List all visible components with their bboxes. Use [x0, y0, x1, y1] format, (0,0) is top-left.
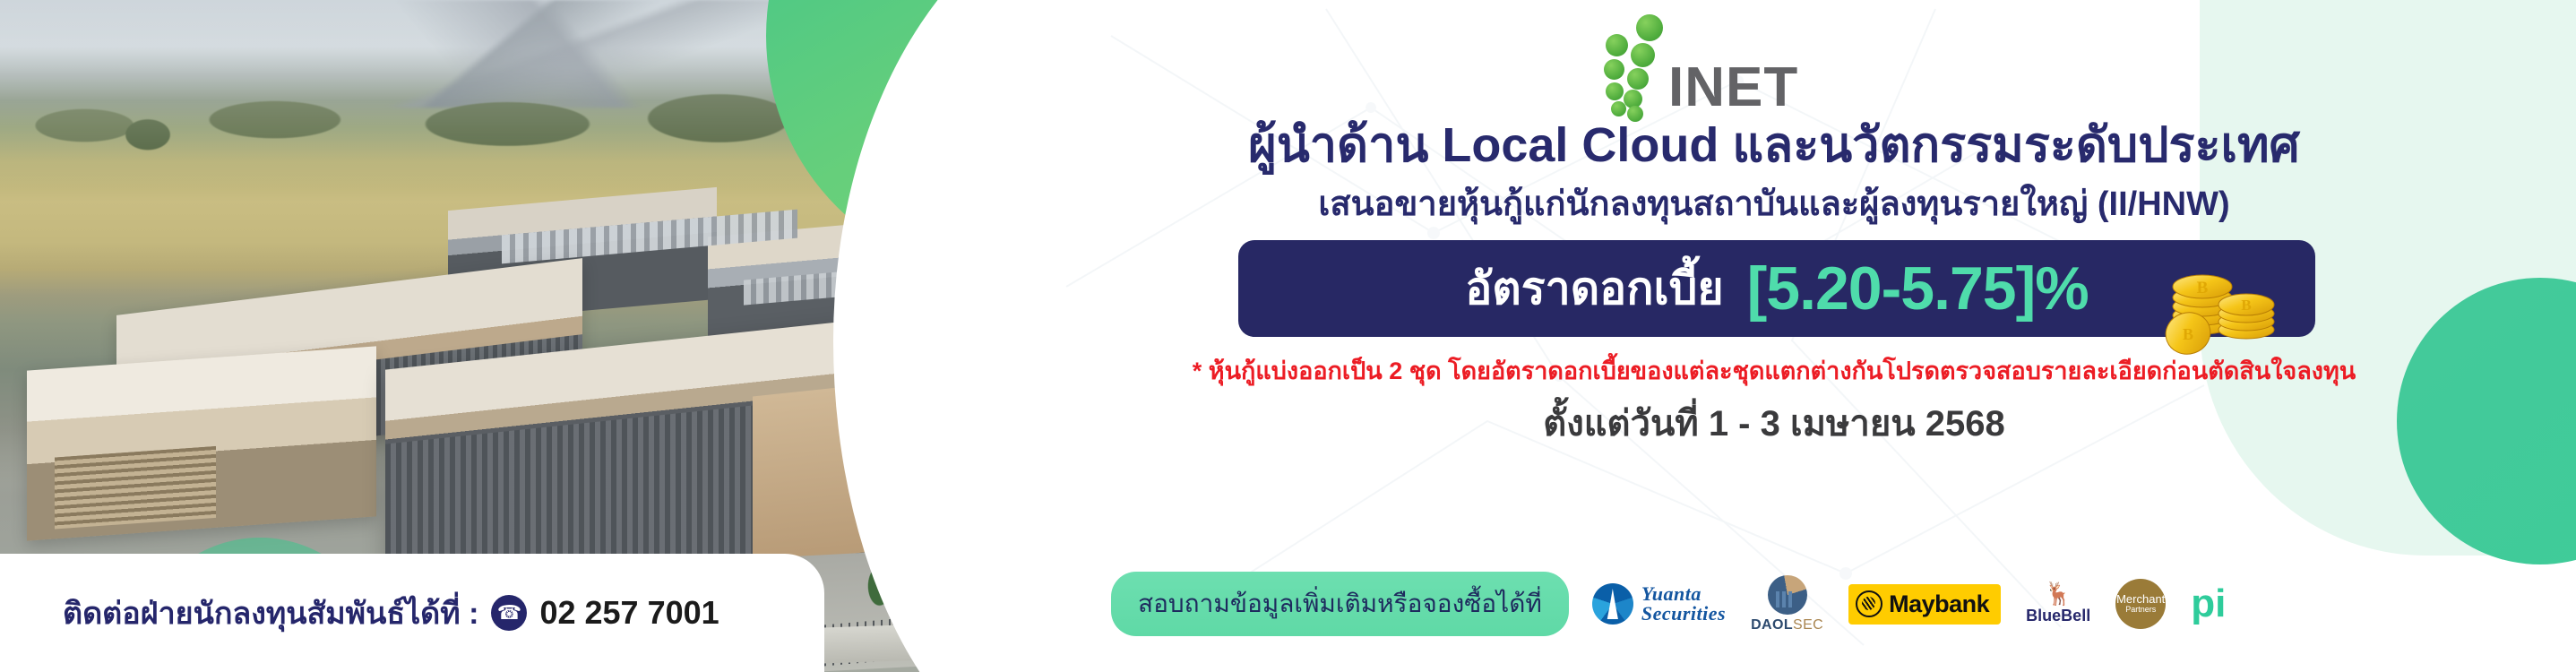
contact-label: ติดต่อฝ่ายนักลงทุนสัมพันธ์ได้ที่ : [63, 589, 478, 637]
contact-inner: ติดต่อฝ่ายนักลงทุนสัมพันธ์ได้ที่ : ☎ 02 … [63, 589, 719, 637]
karst-peaks [81, 5, 457, 82]
pi-label: pi [2191, 582, 2226, 625]
headline: ผู้นำด้าน Local Cloud และนวัตกรรมระดับปร… [1057, 106, 2491, 183]
partner-logo-pi[interactable]: pi [2191, 588, 2226, 619]
merchant-line1: Merchant [2116, 593, 2165, 606]
inet-logo-dots-icon [1584, 13, 1667, 113]
phone-icon: ☎ [491, 595, 527, 631]
daol-line2: SEC [1793, 617, 1823, 633]
daol-label: DAOLSEC [1751, 617, 1823, 633]
interest-rate-label: อัตราดอกเบี้ย [1465, 254, 1723, 324]
yuanta-star-icon [1592, 583, 1633, 625]
svg-text:B: B [2183, 325, 2193, 343]
contact-phone-number[interactable]: 02 257 7001 [539, 594, 719, 632]
partner-logo-merchant[interactable]: Merchant Partners [2115, 579, 2166, 629]
partner-logo-bluebell[interactable]: 🦌 BlueBell [2026, 583, 2090, 625]
cta-row: สอบถามข้อมูลเพิ่มเติมหรือจองซื้อได้ที่ Y… [1111, 572, 2226, 636]
gold-coins-icon: B B B [2156, 220, 2290, 355]
yuanta-line1: Yuanta [1641, 582, 1702, 605]
lone-tree [116, 113, 179, 161]
content-panel: INET ผู้นำด้าน Local Cloud และนวัตกรรมระ… [1057, 0, 2576, 672]
partner-logo-yuanta[interactable]: Yuanta Securities [1592, 583, 1726, 625]
offer-date-range: ตั้งแต่วันที่ 1 - 3 เมษายน 2568 [1057, 394, 2491, 452]
svg-text:B: B [2241, 297, 2251, 314]
daol-circle-icon [1768, 575, 1807, 615]
inet-logo: INET [1584, 13, 1798, 113]
investor-contact-card: ติดต่อฝ่ายนักลงทุนสัมพันธ์ได้ที่ : ☎ 02 … [0, 554, 824, 672]
inquiry-button[interactable]: สอบถามข้อมูลเพิ่มเติมหรือจองซื้อได้ที่ [1111, 572, 1569, 636]
maybank-label: Maybank [1889, 590, 1989, 618]
sun-shade-slats [55, 446, 215, 529]
partner-logo-maybank[interactable]: Maybank [1848, 584, 2001, 625]
daol-line1: DAOL [1751, 617, 1793, 633]
partner-logo-daol[interactable]: DAOLSEC [1751, 575, 1823, 633]
partner-logos: Yuanta Securities DAOLSEC Maybank 🦌 [1592, 575, 2226, 633]
interest-rate-value: [5.20-5.75]% [1747, 254, 2089, 323]
yuanta-label: Yuanta Securities [1641, 584, 1726, 625]
bluebell-label: BlueBell [2026, 607, 2090, 625]
svg-text:B: B [2197, 279, 2209, 297]
bluebell-deer-icon: 🦌 [2045, 583, 2072, 606]
building-office [27, 346, 376, 540]
merchant-line2: Partners [2125, 606, 2156, 614]
maybank-tiger-icon [1856, 590, 1882, 617]
promo-banner: ติดต่อฝ่ายนักลงทุนสัมพันธ์ได้ที่ : ☎ 02 … [0, 0, 2576, 672]
interest-rate-box: อัตราดอกเบี้ย [5.20-5.75]% [1238, 240, 2315, 337]
disclaimer-note: * หุ้นกู้แบ่งออกเป็น 2 ชุด โดยอัตราดอกเบ… [1057, 351, 2491, 390]
yuanta-line2: Securities [1641, 602, 1726, 625]
